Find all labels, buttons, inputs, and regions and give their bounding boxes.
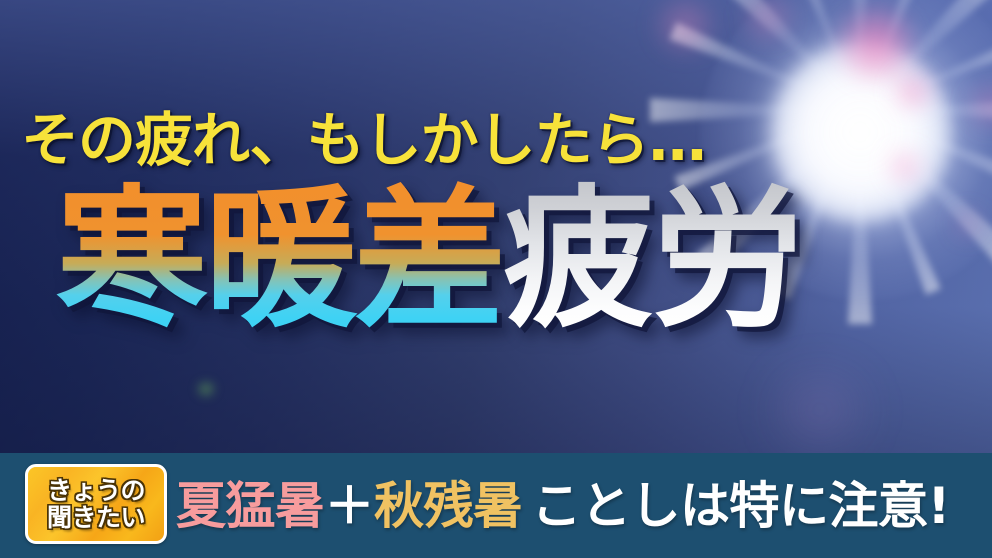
main-title-part-kandansa: 寒暖差 bbox=[56, 180, 503, 340]
purple-haze-icon bbox=[760, 370, 880, 450]
caption-text: 夏猛暑＋秋残暑ことしは特に注意! bbox=[176, 481, 950, 531]
caption-segment-plus: ＋ bbox=[325, 477, 375, 535]
bottom-caption-bar: きょうの 聞きたい 夏猛暑＋秋残暑ことしは特に注意! bbox=[0, 453, 992, 558]
caption-segment-chui: ことしは特に注意! bbox=[532, 477, 950, 535]
main-title: 寒暖差 疲労 bbox=[56, 180, 801, 340]
headline-text: その疲れ、もしかしたら… bbox=[21, 111, 706, 169]
green-lens-flare-icon bbox=[196, 381, 216, 397]
badge-line-2: 聞きたい bbox=[47, 504, 145, 531]
caption-segment-natsu-mousho: 夏猛暑 bbox=[176, 477, 325, 535]
caption-segment-aki-zansho: 秋残暑 bbox=[374, 477, 523, 535]
title-card: その疲れ、もしかしたら… 寒暖差 疲労 きょうの 聞きたい 夏猛暑＋秋残暑ことし… bbox=[0, 0, 992, 558]
main-title-part-hirou: 疲労 bbox=[503, 180, 801, 340]
badge-line-1: きょうの bbox=[47, 477, 145, 504]
program-segment-badge: きょうの 聞きたい bbox=[25, 464, 167, 544]
